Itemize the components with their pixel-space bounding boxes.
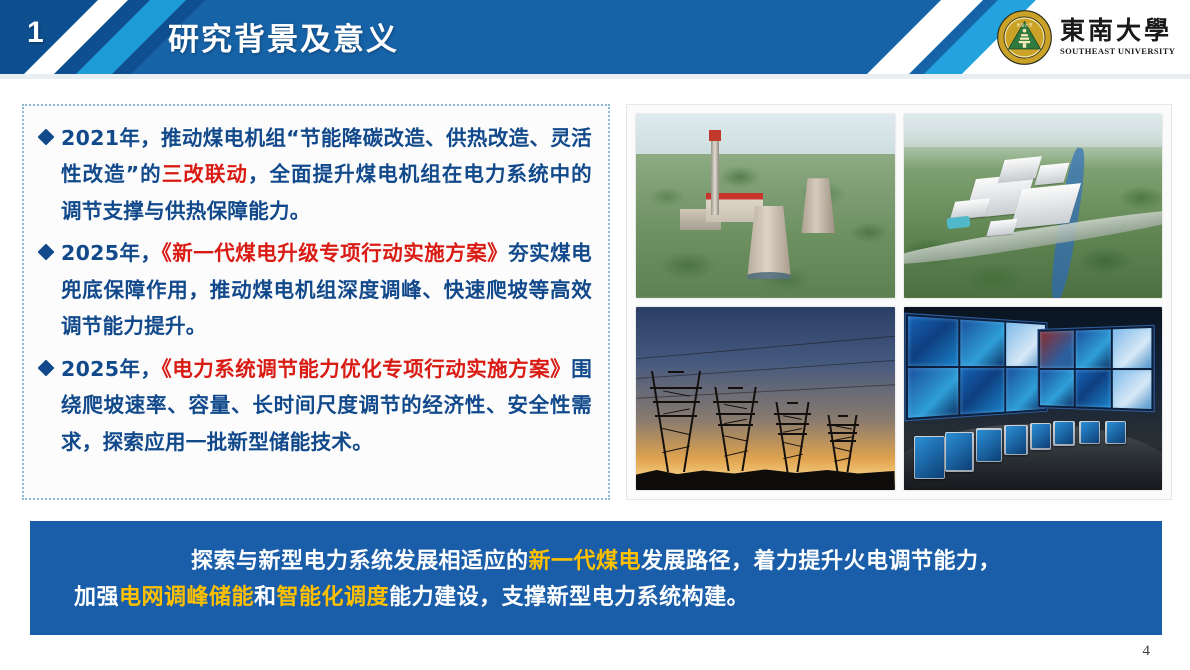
banner-l1-seg-3: 发展路径，着力提升火电调节能力，: [641, 549, 1001, 574]
banner-line-2: 加强电网调峰储能和智能化调度能力建设，支撑新型电力系统构建。: [52, 580, 1140, 616]
banner-l2-seg-1: 加强: [74, 585, 119, 610]
bullet-text-1: 2021年，推动煤电机组“节能降碳改造、供热改造、灵活性改造”的三改联动，全面提…: [61, 120, 592, 229]
page-title: 研究背景及意义: [168, 14, 399, 59]
photo3-pylon: [721, 387, 749, 471]
photo4-video-wall-left: [904, 312, 1047, 420]
image-gallery: [626, 104, 1172, 500]
bullet-item: 2025年，《新一代煤电升级专项行动实施方案》夯实煤电兜底保障作用，推动煤电机组…: [40, 235, 592, 344]
bullet-item: 2021年，推动煤电机组“节能降碳改造、供热改造、灵活性改造”的三改联动，全面提…: [40, 120, 592, 229]
university-logo: 東南大學 東南大學 SOUTHEAST UNIVERSITY: [996, 8, 1181, 66]
photo4-monitor: [1004, 425, 1028, 456]
bullet-2-seg-1: 2025年，: [61, 241, 161, 265]
bullet-2-seg-2: 《新一代煤电升级专项行动实施方案》: [161, 241, 508, 265]
university-name-en: SOUTHEAST UNIVERSITY: [1060, 46, 1175, 56]
power-control-room-photo: [904, 307, 1163, 491]
photo3-power-line: [636, 336, 894, 360]
bullet-text-2: 2025年，《新一代煤电升级专项行动实施方案》夯实煤电兜底保障作用，推动煤电机组…: [61, 235, 592, 344]
coal-power-plant-aerial-photo: [636, 114, 895, 298]
diamond-bullet-icon: [38, 129, 55, 146]
background-text-box: 2021年，推动煤电机组“节能降碳改造、供热改造、灵活性改造”的三改联动，全面提…: [22, 104, 610, 500]
photo4-monitor: [1079, 421, 1100, 444]
header-underline: [0, 74, 1190, 79]
photo4-monitor: [1030, 423, 1051, 450]
university-name-cn: 東南大學: [1060, 18, 1175, 43]
seu-emblem-icon: 東南大學: [996, 9, 1053, 66]
photo2-water-basin: [947, 216, 971, 229]
photo4-monitor: [1053, 421, 1074, 446]
photo3-pylon: [832, 415, 853, 472]
photo2-building: [998, 156, 1042, 182]
transmission-towers-sunset-photo: [636, 307, 895, 491]
slide-header: 1 研究背景及意义 東南大學 東南大學 SOUTHEAST UNIVERSITY: [0, 0, 1190, 74]
svg-text:東南大學: 東南大學: [1017, 21, 1033, 27]
photo4-video-wall-right: [1037, 324, 1154, 412]
photo4-monitor: [976, 428, 1002, 462]
photo3-pylon: [781, 402, 804, 472]
photo4-monitor: [945, 432, 974, 472]
banner-l2-seg-2: 电网调峰储能: [119, 585, 254, 610]
diamond-bullet-icon: [38, 359, 55, 376]
banner-l1-seg-2: 新一代煤电: [528, 549, 641, 574]
photo4-monitor: [914, 436, 945, 479]
banner-l2-seg-4: 智能化调度: [277, 585, 390, 610]
banner-l1-seg-1: 探索与新型电力系统发展相适应的: [191, 549, 529, 574]
photo1-chimney: [711, 138, 719, 215]
industrial-park-aerial-photo: [904, 114, 1163, 298]
bullet-1-seg-2: 三改联动: [162, 162, 248, 186]
bullet-3-seg-2: 《电力系统调节能力优化专项行动实施方案》: [161, 357, 571, 381]
page-number: 4: [1143, 643, 1151, 660]
summary-banner: 探索与新型电力系统发展相适应的新一代煤电发展路径，着力提升火电调节能力， 加强电…: [30, 521, 1162, 635]
banner-line-1: 探索与新型电力系统发展相适应的新一代煤电发展路径，着力提升火电调节能力，: [52, 544, 1140, 580]
bullet-3-seg-1: 2025年，: [61, 357, 161, 381]
banner-l2-seg-5: 能力建设，支撑新型电力系统构建。: [389, 585, 749, 610]
banner-l2-seg-3: 和: [254, 585, 277, 610]
university-name-block: 東南大學 SOUTHEAST UNIVERSITY: [1060, 18, 1175, 56]
section-number: 1: [27, 16, 44, 50]
bullet-item: 2025年，《电力系统调节能力优化专项行动实施方案》围绕爬坡速率、容量、长时间尺…: [40, 351, 592, 460]
bullet-text-3: 2025年，《电力系统调节能力优化专项行动实施方案》围绕爬坡速率、容量、长时间尺…: [61, 351, 592, 460]
photo4-monitor: [1105, 421, 1126, 444]
photo3-pylon: [659, 371, 693, 472]
diamond-bullet-icon: [38, 244, 55, 261]
